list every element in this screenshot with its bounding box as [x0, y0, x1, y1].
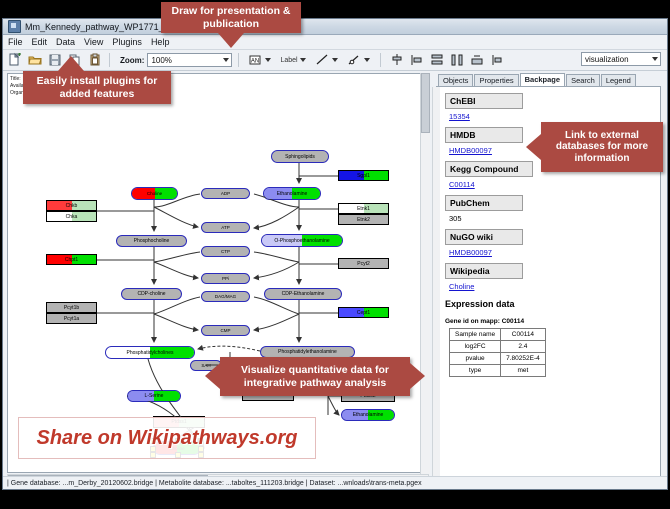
node-label: Pcyt1a [64, 316, 79, 322]
node-label: Ethanolamine [353, 412, 384, 418]
node-label: DAG/MAG [215, 294, 236, 299]
distribute-vertical-icon[interactable] [429, 52, 445, 68]
zoom-value: 100% [151, 56, 171, 65]
pathway-node-phosphatidylcholines[interactable]: Phosphatidylcholines [105, 346, 195, 359]
expression-table: Sample name C00114 log2FC 2.4 pvalue 7.8… [449, 328, 546, 377]
node-label: CDP-choline [137, 291, 165, 297]
node-label: L-Serine [145, 393, 164, 399]
node-label: Choline [147, 191, 162, 196]
distribute-horizontal-icon[interactable] [449, 52, 465, 68]
db-header-chebi: ChEBI [445, 93, 523, 109]
pathway-node-ctp[interactable]: CTP [201, 246, 250, 257]
visualization-combo[interactable]: visualization [581, 52, 661, 66]
pathway-canvas[interactable]: Title: Availa Organi [7, 73, 429, 473]
db-link-wikipedia[interactable]: Choline [449, 282, 660, 291]
pathway-node-phosphocholine[interactable]: Phosphocholine [116, 235, 187, 247]
side-panel-tabs: Objects Properties Backpage Search Legen… [438, 73, 637, 86]
pathway-node-ethanolamine-top[interactable]: Ethanolamine [263, 187, 321, 200]
pathway-node-dagmag[interactable]: DAG/MAG [201, 291, 250, 302]
node-label: Etnk2 [357, 217, 370, 223]
node-label: ATP [221, 225, 229, 230]
callout-visualize: Visualize quantitative data for integrat… [220, 357, 410, 396]
chevron-down-icon[interactable] [364, 58, 370, 62]
node-label: Phosphatidylcholines [127, 350, 174, 356]
db-header-pubchem: PubChem [445, 195, 523, 211]
label-dropdown-label: Label [280, 57, 297, 64]
db-link-nugo-wiki[interactable]: HMDB00097 [449, 248, 660, 257]
expr-key-type: type [450, 365, 501, 377]
tab-search[interactable]: Search [566, 74, 600, 86]
node-label: Pcyt2 [357, 261, 370, 267]
table-row: type met [450, 365, 546, 377]
menu-item-data[interactable]: Data [56, 37, 75, 47]
table-row: log2FC 2.4 [450, 341, 546, 353]
callout-share: Share on Wikipathways.org [18, 417, 316, 459]
callout-links: Link to external databases for more info… [541, 122, 663, 172]
pathway-node-chkb[interactable]: Chkb [46, 200, 97, 211]
node-label: Chka [66, 214, 78, 220]
pathway-node-atp[interactable]: ATP [201, 222, 250, 233]
node-label: Pcyt1b [64, 305, 79, 311]
db-link-kegg-compound[interactable]: C00114 [449, 180, 660, 189]
pathway-node-sgpl1[interactable]: Sgpl1 [338, 170, 389, 181]
pathway-node-pcyt1b[interactable]: Pcyt1b [46, 302, 97, 313]
toolbar-separator [238, 53, 239, 67]
screenshot-root: Mm_Kennedy_pathway_WP1771_45176.gpml Fil… [0, 0, 670, 509]
pathway-node-cept1[interactable]: Cept1 [338, 307, 389, 318]
tab-backpage[interactable]: Backpage [520, 73, 565, 86]
callout-visualize-arrow-right-icon [410, 363, 425, 389]
title-bar: Mm_Kennedy_pathway_WP1771_45176.gpml [3, 19, 667, 35]
node-label: Chkb [66, 203, 78, 209]
db-header-nugo-wiki: NuGO wiki [445, 229, 523, 245]
db-link-chebi[interactable]: 15354 [449, 112, 660, 121]
node-label: ADP [221, 191, 230, 196]
callout-draw-arrow-icon [218, 33, 244, 48]
node-label: CDP-Ethanolamine [282, 291, 325, 297]
callout-plugins-arrow-icon [58, 56, 84, 71]
toolbar: Zoom: 100% AN Label [3, 50, 667, 71]
align-left-icon[interactable] [409, 52, 425, 68]
new-file-icon[interactable] [7, 52, 23, 68]
menu-item-edit[interactable]: Edit [32, 37, 48, 47]
toolbar-separator [380, 53, 381, 67]
zoom-label: Zoom: [120, 56, 144, 65]
pathway-node-pcyt1a[interactable]: Pcyt1a [46, 313, 97, 324]
pathway-node-sphingolipids[interactable]: Sphingolipids [271, 150, 329, 163]
group-icon[interactable] [489, 52, 505, 68]
node-label: Cept1 [357, 310, 370, 316]
visualization-value: visualization [585, 55, 629, 64]
db-value-pubchem: 305 [449, 214, 660, 223]
node-label: PPi [222, 276, 229, 281]
expr-key-log2fc: log2FC [450, 341, 501, 353]
pathway-node-l-serine-left[interactable]: L-Serine [127, 390, 181, 402]
pathway-node-ethanolamine-right[interactable]: Ethanolamine [341, 409, 395, 421]
node-label: O-Phosphoethanolamine [274, 238, 329, 244]
zoom-combo[interactable]: 100% [147, 53, 232, 67]
db-header-kegg-compound: Kegg Compound [445, 161, 533, 177]
menu-item-view[interactable]: View [84, 37, 103, 47]
datanode-icon[interactable]: AN [247, 52, 263, 68]
node-label: Etnk1 [357, 206, 370, 212]
expr-key-pvalue: pvalue [450, 353, 501, 365]
pathway-node-etnk1[interactable]: Etnk1 [338, 203, 389, 214]
node-label: Sgpl1 [357, 173, 370, 179]
pathway-node-etnk2[interactable]: Etnk2 [338, 214, 389, 225]
pathway-node-cdp-ethanolamine[interactable]: CDP-Ethanolamine [264, 288, 342, 300]
expr-val-type: met [501, 365, 546, 377]
scrollbar-thumb[interactable] [421, 73, 430, 133]
tab-objects[interactable]: Objects [438, 74, 473, 86]
expr-val-log2fc: 2.4 [501, 341, 546, 353]
toolbar-separator [109, 53, 110, 67]
node-label: Ethanolamine [277, 191, 308, 197]
callout-visualize-arrow-icon [205, 363, 220, 389]
chevron-down-icon[interactable] [265, 58, 271, 62]
callout-share-text: Share on Wikipathways.org [37, 427, 298, 450]
chevron-down-icon[interactable] [300, 58, 306, 62]
paste-icon[interactable] [87, 52, 103, 68]
status-bar: | Gene database: ...m_Derby_20120602.bri… [3, 476, 667, 489]
node-label: CTP [221, 249, 230, 254]
table-row: pvalue 7.80252E-4 [450, 353, 546, 365]
expr-val-pvalue: 7.80252E-4 [501, 353, 546, 365]
callout-links-arrow-icon [526, 134, 541, 160]
chevron-down-icon [652, 57, 658, 61]
table-row: Sample name C00114 [450, 329, 546, 341]
canvas-vertical-scrollbar[interactable] [420, 73, 430, 474]
anchor-icon[interactable] [346, 52, 362, 68]
chevron-down-icon[interactable] [332, 58, 338, 62]
node-label: Phosphatidylethanolamine [278, 349, 337, 355]
menu-item-help[interactable]: Help [151, 37, 170, 47]
menu-item-plugins[interactable]: Plugins [112, 37, 142, 47]
db-header-wikipedia: Wikipedia [445, 263, 523, 279]
line-icon[interactable] [314, 52, 330, 68]
expr-key-sample-name: Sample name [450, 329, 501, 341]
pathway-node-cmp[interactable]: CMP [201, 325, 250, 336]
pathway-node-pcyt2[interactable]: Pcyt2 [338, 258, 389, 269]
status-bar-text: | Gene database: ...m_Derby_20120602.bri… [3, 480, 422, 487]
open-folder-icon[interactable] [27, 52, 43, 68]
stack-icon[interactable] [469, 52, 485, 68]
svg-text:AN: AN [251, 59, 259, 65]
pathway-node-cdp-choline[interactable]: CDP-choline [121, 288, 182, 300]
pathway-node-ppi[interactable]: PPi [201, 273, 250, 284]
tab-properties[interactable]: Properties [474, 74, 518, 86]
callout-plugins: Easily install plugins for added feature… [23, 71, 171, 104]
pathway-node-choline-top[interactable]: Choline [131, 187, 178, 200]
node-label: CMP [221, 328, 231, 333]
gene-id-label: Gene id on mapp: C00114 [445, 318, 660, 325]
menu-item-file[interactable]: File [8, 37, 23, 47]
node-label: Phosphocholine [134, 238, 170, 244]
align-center-icon[interactable] [389, 52, 405, 68]
panel-vertical-scrollbar[interactable] [432, 87, 440, 479]
db-header-hmdb: HMDB [445, 127, 523, 143]
menu-bar: File Edit Data View Plugins Help [3, 35, 667, 50]
chevron-down-icon [223, 58, 229, 62]
app-icon [8, 20, 21, 33]
callout-draw: Draw for presentation & publication [161, 2, 301, 33]
pathway-node-o-phosphoethanolamine[interactable]: O-Phosphoethanolamine [261, 234, 343, 247]
tab-legend[interactable]: Legend [601, 74, 636, 86]
pathway-node-chka[interactable]: Chka [46, 211, 97, 222]
node-label: Sphingolipids [285, 154, 315, 160]
pathway-node-chpt1[interactable]: Chpt1 [46, 254, 97, 265]
pathway-node-adp[interactable]: ADP [201, 188, 250, 199]
expression-data-heading: Expression data [445, 299, 660, 309]
node-label: Chpt1 [65, 257, 78, 263]
expr-val-sample-name: C00114 [501, 329, 546, 341]
